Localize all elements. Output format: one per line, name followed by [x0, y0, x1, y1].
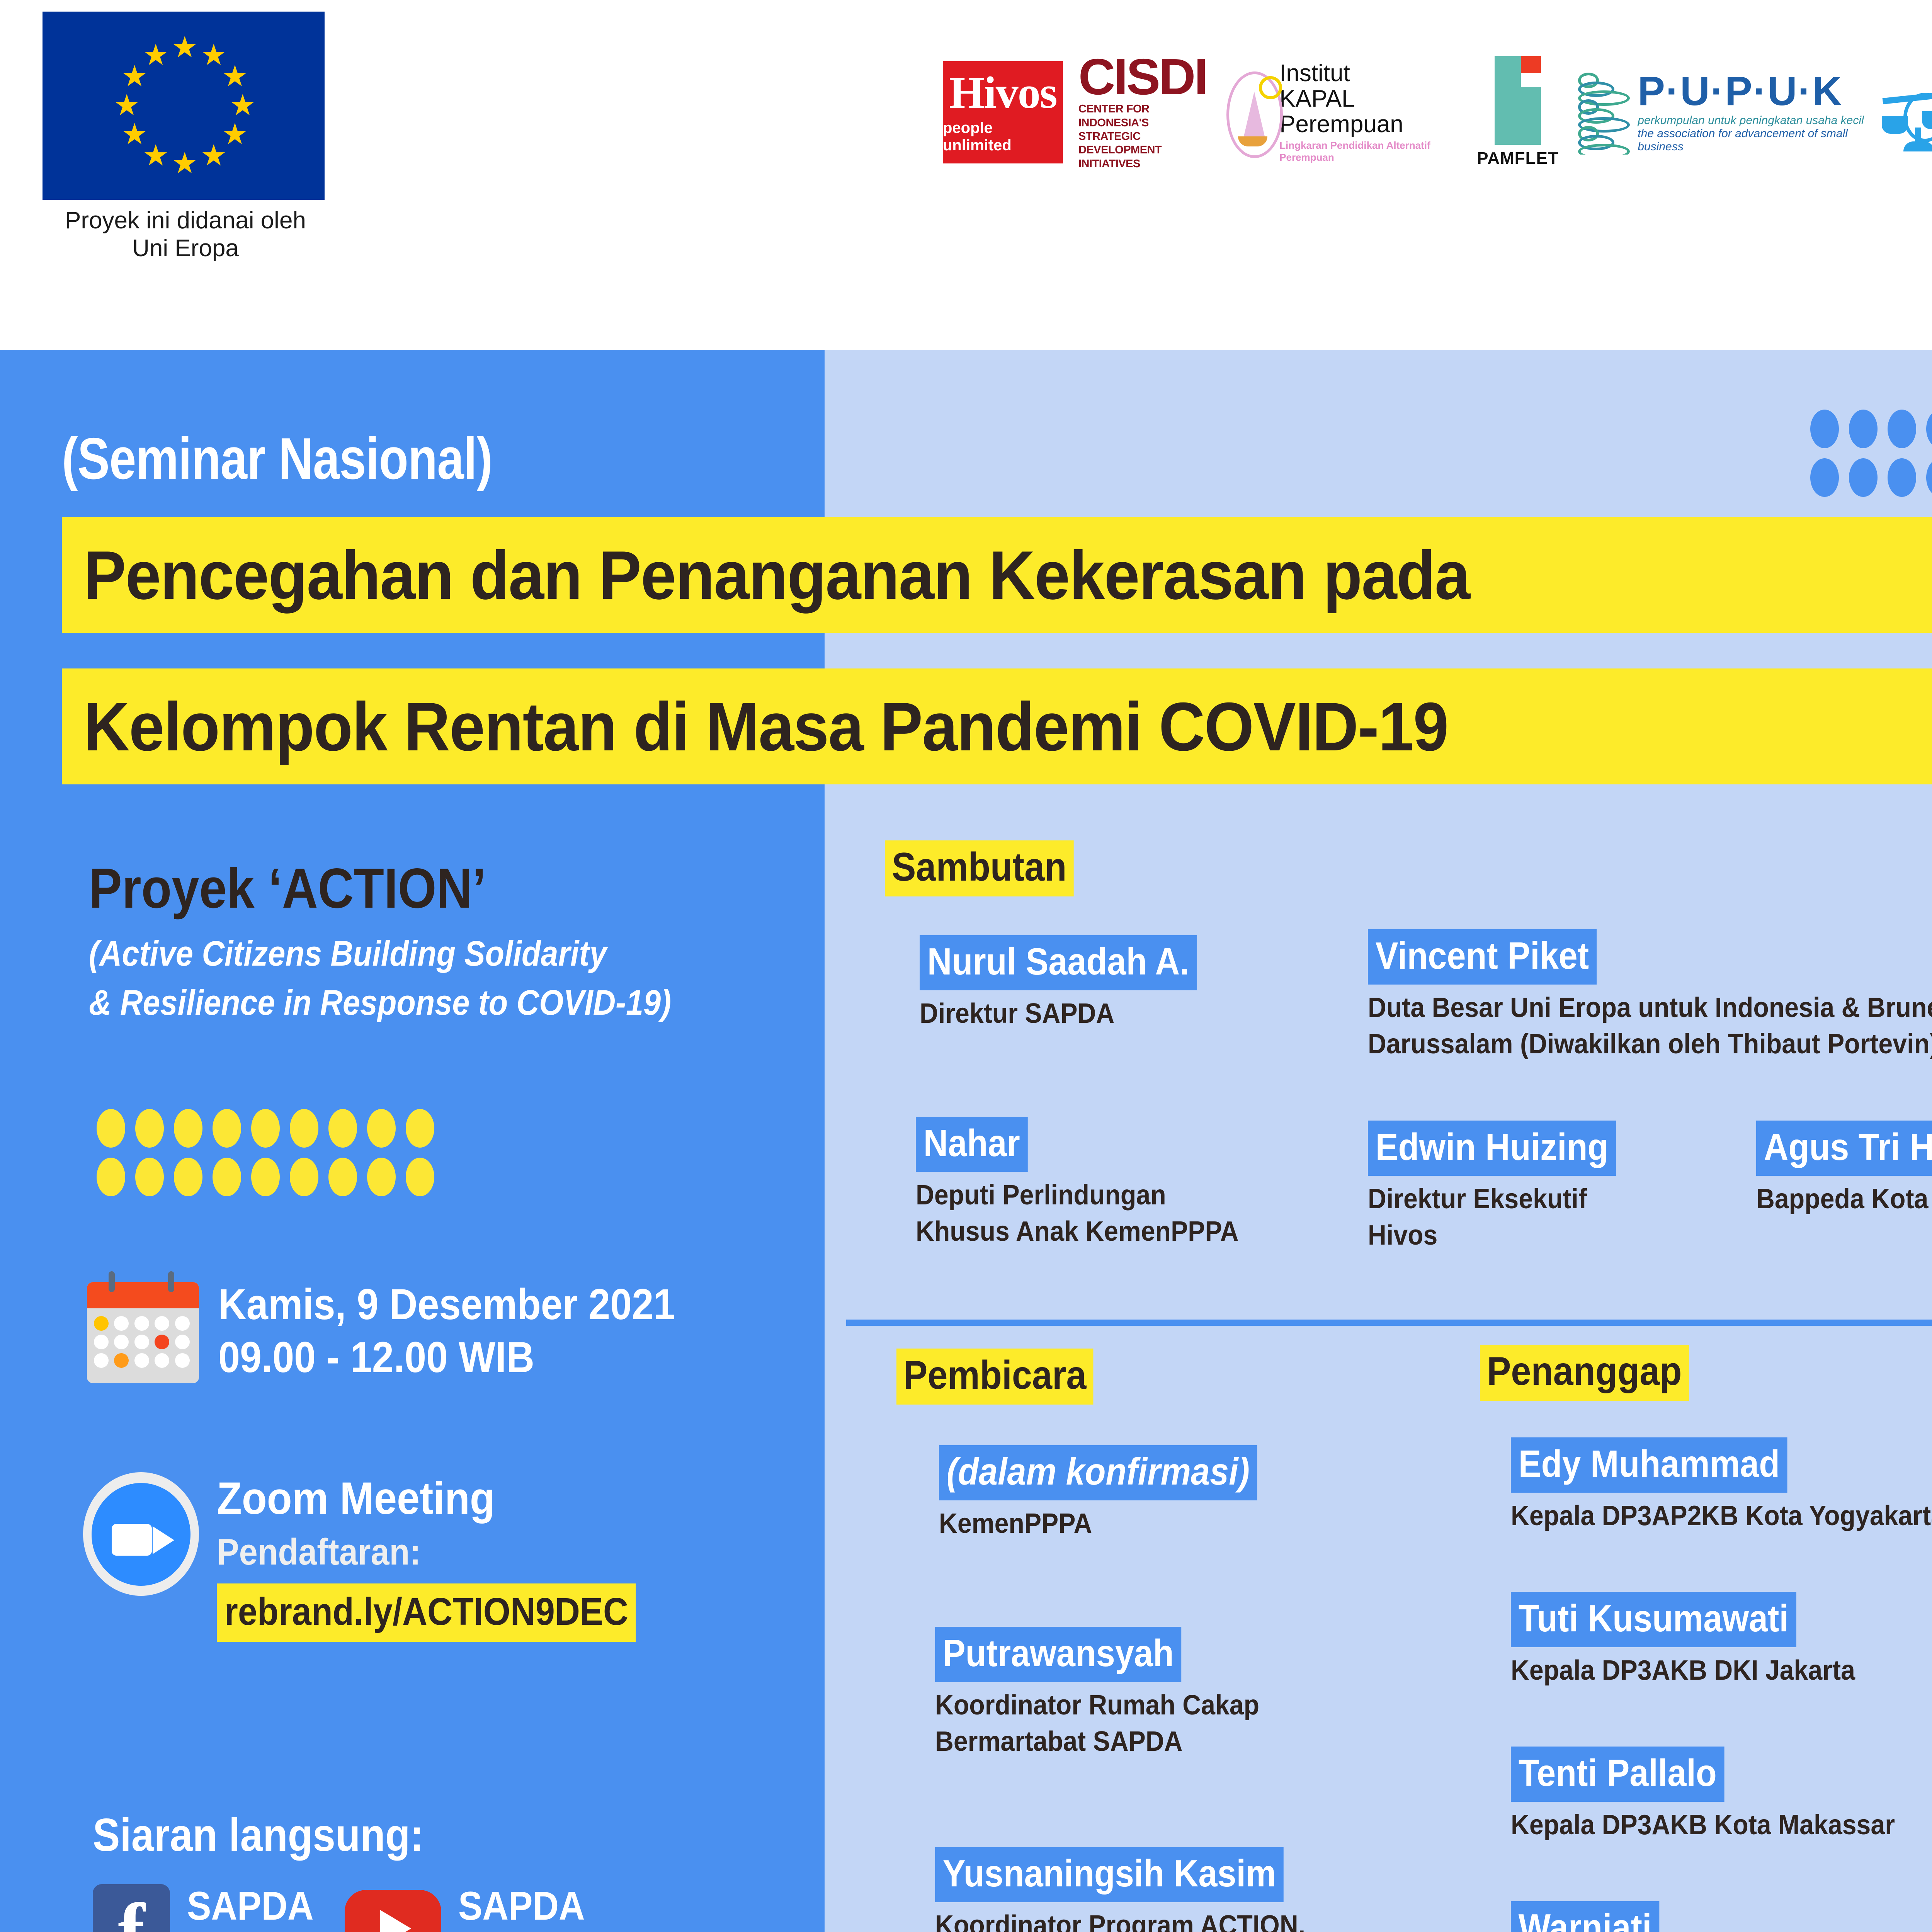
- person-name: Vincent Piket: [1368, 929, 1597, 985]
- kapal-line2: KAPAL Perempuan: [1279, 86, 1461, 137]
- decor-dot: [1926, 410, 1932, 448]
- partner-logos-row: Hivos people unlimited CISDI CENTER FOR …: [943, 43, 1932, 182]
- schedule-time: 09.00 - 12.00 WIB: [218, 1331, 675, 1384]
- decor-dot: [1888, 410, 1916, 448]
- european-union-flag: ★★★★★★★★★★★★: [43, 12, 325, 200]
- calendar-day-dot: [114, 1316, 129, 1331]
- kapal-tagline: Lingkaran Pendidikan Alternatif Perempua…: [1279, 139, 1461, 163]
- decor-dot: [367, 1109, 396, 1148]
- cisdi-logo: CISDI CENTER FOR INDONESIA'S STRATEGIC D…: [1078, 53, 1208, 171]
- decor-dot: [174, 1158, 202, 1196]
- pupuk-tagline-id: perkumpulan untuk peningkatan usaha keci…: [1638, 114, 1864, 127]
- pupuk-tagline-en: the association for advancement of small…: [1638, 127, 1864, 153]
- hivos-wordmark: Hivos: [949, 70, 1057, 116]
- eu-caption-line2: Uni Eropa: [43, 235, 328, 262]
- decor-dot: [1849, 410, 1878, 448]
- pupuk-swirl-icon: [1574, 70, 1632, 155]
- decor-dot: [1810, 458, 1839, 497]
- person-role-line1: Deputi Perlindungan: [916, 1177, 1239, 1214]
- project-expansion-line1: (Active Citizens Building Solidarity: [89, 929, 671, 978]
- sapda-logo: sapda Sentra Advokasi Perempuan, Difabel…: [1879, 70, 1932, 155]
- livestream-heading: Siaran langsung:: [93, 1808, 424, 1862]
- decor-dot: [367, 1158, 396, 1196]
- person-name: Edy Muhammad: [1511, 1437, 1787, 1493]
- person-name: Tenti Pallalo: [1511, 1747, 1725, 1802]
- hivos-tagline: people unlimited: [943, 119, 1063, 154]
- zoom-camera-icon: [83, 1472, 199, 1588]
- meeting-platform: Zoom Meeting: [217, 1472, 636, 1525]
- eu-star-icon: ★: [201, 43, 224, 67]
- project-expansion-line2: & Resilience in Response to COVID-19): [89, 978, 671, 1027]
- pupuk-wordmark: P·U·P·U·K perkumpulan untuk peningkatan …: [1638, 71, 1864, 153]
- pupuk-logo: P·U·P·U·K perkumpulan untuk peningkatan …: [1574, 70, 1864, 155]
- section-divider: [846, 1320, 1932, 1326]
- schedule-block: Kamis, 9 Desember 2021 09.00 - 12.00 WIB: [87, 1271, 726, 1384]
- youtube-icon[interactable]: [345, 1890, 441, 1932]
- calendar-day-dot: [94, 1316, 109, 1331]
- project-expansion: (Active Citizens Building Solidarity & R…: [89, 929, 671, 1027]
- person-name: Warniati: [1511, 1901, 1659, 1932]
- calendar-icon: [87, 1271, 199, 1383]
- hivos-logo: Hivos people unlimited: [943, 61, 1063, 163]
- header-logo-band: ★★★★★★★★★★★★ Proyek ini didanai oleh Uni…: [0, 0, 1932, 350]
- cisdi-wordmark: CISDI: [1078, 53, 1207, 100]
- person-card: Warniati Aktivis Lembaga Perlindungan An…: [1511, 1901, 1932, 1932]
- seminar-kicker: (Seminar Nasional): [62, 425, 492, 493]
- section-label-sambutan: Sambutan: [885, 840, 1095, 896]
- person-role-line1: Kepala DP3AKB DKI Jakarta: [1511, 1653, 1855, 1689]
- decor-dot-row: [97, 1109, 434, 1148]
- person-name: Tuti Kusumawati: [1511, 1592, 1796, 1647]
- decor-dot: [251, 1158, 280, 1196]
- kapal-line1: Institut: [1279, 61, 1461, 86]
- eu-funding-caption: Proyek ini didanai oleh Uni Eropa: [43, 207, 328, 262]
- calendar-day-dot: [134, 1353, 149, 1368]
- decor-dot: [97, 1109, 125, 1148]
- title-band-line2: Kelompok Rentan di Masa Pandemi COVID-19: [62, 668, 1932, 784]
- calendar-day-dot: [155, 1335, 169, 1349]
- decor-dot-row: [1810, 458, 1932, 497]
- person-role-line1: Direktur SAPDA: [920, 996, 1203, 1032]
- meeting-block: Zoom Meeting Pendaftaran: rebrand.ly/ACT…: [83, 1472, 682, 1642]
- calendar-day-dot: [134, 1316, 149, 1331]
- eu-star-icon: ★: [222, 65, 246, 88]
- person-name: Agus Tri Haryono: [1756, 1121, 1932, 1176]
- decor-dot: [406, 1158, 434, 1196]
- decor-dot: [290, 1158, 318, 1196]
- decorative-blue-dots: [1810, 410, 1932, 497]
- section-label-pembicara: Pembicara: [896, 1349, 1115, 1405]
- project-name: Proyek ‘ACTION’: [89, 856, 486, 921]
- youtube-channel-name: SAPDA Media: [458, 1884, 585, 1932]
- person-card: Nahar Deputi Perlindungan Khusus Anak Ke…: [916, 1117, 1267, 1250]
- person-card: Yusnaningsih Kasim Koordinator Program A…: [935, 1847, 1337, 1932]
- pamflet-wordmark: PAMFLET: [1477, 149, 1559, 168]
- decor-dot: [174, 1109, 202, 1148]
- person-card: Agus Tri Haryono Bappeda Kota Yogyakarta: [1756, 1121, 1932, 1218]
- person-card: Edwin Huizing Direktur Eksekutif Hivos: [1368, 1121, 1644, 1253]
- cisdi-tagline-line2: INDONESIA'S STRATEGIC: [1078, 116, 1208, 144]
- decor-dot: [1849, 458, 1878, 497]
- facebook-channel-line1: SAPDA: [187, 1884, 314, 1929]
- eu-star-icon: ★: [172, 151, 196, 175]
- person-role-line2: Hivos: [1368, 1218, 1622, 1254]
- calendar-day-dot: [94, 1353, 109, 1368]
- decor-dot: [1810, 410, 1839, 448]
- person-name: Edwin Huizing: [1368, 1121, 1616, 1176]
- decor-dot: [135, 1109, 164, 1148]
- youtube-channel-line2: Media: [458, 1929, 585, 1932]
- pamflet-logo: PAMFLET: [1477, 56, 1559, 168]
- decor-dot: [213, 1158, 241, 1196]
- decor-dot: [251, 1109, 280, 1148]
- eu-star-icon: ★: [114, 94, 138, 117]
- decor-dot-row: [1810, 410, 1932, 448]
- cisdi-tagline: CENTER FOR INDONESIA'S STRATEGIC DEVELOP…: [1078, 102, 1208, 171]
- eu-star-icon: ★: [230, 94, 253, 117]
- person-card: Edy Muhammad Kepala DP3AP2KB Kota Yogyak…: [1511, 1437, 1932, 1534]
- kapal-perempuan-logo: Institut KAPAL Perempuan Lingkaran Pendi…: [1223, 61, 1461, 163]
- person-role-line2: Darussalam (Diwakilkan oleh Thibaut Port…: [1368, 1026, 1932, 1063]
- sapda-scales-icon: [1879, 70, 1932, 155]
- decor-dot: [213, 1109, 241, 1148]
- cisdi-tagline-line3: DEVELOPMENT INITIATIVES: [1078, 143, 1208, 171]
- person-role-line2: Khusus Anak KemenPPPA: [916, 1214, 1239, 1250]
- meeting-text: Zoom Meeting Pendaftaran: rebrand.ly/ACT…: [217, 1472, 682, 1642]
- person-card: Putrawansyah Koordinator Rumah Cakap Ber…: [935, 1627, 1287, 1760]
- registration-label: Pendaftaran:: [217, 1531, 636, 1573]
- title-band-line1: Pencegahan dan Penanganan Kekerasan pada: [62, 517, 1932, 633]
- title-line2: Kelompok Rentan di Masa Pandemi COVID-19: [83, 687, 1448, 766]
- registration-url[interactable]: rebrand.ly/ACTION9DEC: [217, 1583, 636, 1642]
- decor-dot: [328, 1109, 357, 1148]
- person-role-line1: Duta Besar Uni Eropa untuk Indonesia & B…: [1368, 990, 1932, 1026]
- person-role-line1: KemenPPPA: [939, 1506, 1264, 1542]
- calendar-day-dot: [175, 1316, 190, 1331]
- person-role-line2: Bermartabat SAPDA: [935, 1724, 1259, 1760]
- kapal-wordmark: Institut KAPAL Perempuan Lingkaran Pendi…: [1279, 61, 1461, 163]
- decor-dot: [406, 1109, 434, 1148]
- eu-funding-block: ★★★★★★★★★★★★ Proyek ini didanai oleh Uni…: [43, 12, 328, 262]
- calendar-day-dot: [175, 1335, 190, 1349]
- decorative-yellow-dots: [97, 1109, 434, 1196]
- calendar-day-dot: [134, 1335, 149, 1349]
- person-card: Nurul Saadah A. Direktur SAPDA: [920, 935, 1228, 1032]
- decor-dot: [135, 1158, 164, 1196]
- calendar-day-dot: [175, 1353, 190, 1368]
- decor-dot: [328, 1158, 357, 1196]
- person-name: (dalam konfirmasi): [939, 1445, 1257, 1500]
- person-role-line1: Bappeda Kota Yogyakarta: [1756, 1181, 1932, 1218]
- youtube-channel-line1: SAPDA: [458, 1884, 585, 1929]
- eu-caption-line1: Proyek ini didanai oleh: [43, 207, 328, 235]
- calendar-day-dot: [94, 1335, 109, 1349]
- eu-star-icon: ★: [121, 65, 145, 88]
- livestream-channels: f SAPDA Jogja SAPDA Media: [93, 1884, 599, 1932]
- person-role-line1: Koordinator Program ACTION,: [935, 1908, 1305, 1932]
- schedule-date: Kamis, 9 Desember 2021: [218, 1278, 675, 1331]
- seminar-poster: ★★★★★★★★★★★★ Proyek ini didanai oleh Uni…: [0, 0, 1932, 1932]
- person-role-line1: Kepala DP3AKB Kota Makassar: [1511, 1807, 1895, 1844]
- decor-dot-row: [97, 1158, 434, 1196]
- title-line1: Pencegahan dan Penanganan Kekerasan pada: [83, 536, 1469, 615]
- person-role-line1: Koordinator Rumah Cakap: [935, 1687, 1259, 1724]
- facebook-channel-line2: Jogja: [187, 1929, 314, 1932]
- section-label-penanggap: Penanggap: [1480, 1345, 1712, 1401]
- facebook-icon[interactable]: f: [93, 1884, 170, 1932]
- calendar-day-dot: [155, 1353, 169, 1368]
- person-role-line1: Direktur Eksekutif: [1368, 1181, 1622, 1218]
- person-role-line1: Kepala DP3AP2KB Kota Yogyakarta: [1511, 1498, 1932, 1534]
- pamflet-mark-icon: [1495, 56, 1541, 145]
- kapal-boat-icon: [1223, 68, 1274, 156]
- cisdi-tagline-line1: CENTER FOR: [1078, 102, 1208, 116]
- person-card: (dalam konfirmasi) KemenPPPA: [939, 1445, 1293, 1542]
- facebook-channel-name: SAPDA Jogja: [187, 1884, 314, 1932]
- pupuk-main: P·U·P·U·K: [1638, 71, 1864, 112]
- person-card: Vincent Piket Duta Besar Uni Eropa untuk…: [1368, 929, 1932, 1062]
- decor-dot: [97, 1158, 125, 1196]
- person-name: Nahar: [916, 1117, 1028, 1172]
- schedule-text: Kamis, 9 Desember 2021 09.00 - 12.00 WIB: [218, 1271, 726, 1384]
- decor-dot: [290, 1109, 318, 1148]
- calendar-day-dot: [114, 1353, 129, 1368]
- decor-dot: [1888, 458, 1916, 497]
- person-name: Yusnaningsih Kasim: [935, 1847, 1284, 1902]
- person-card: Tuti Kusumawati Kepala DP3AKB DKI Jakart…: [1511, 1592, 1885, 1689]
- eu-star-icon: ★: [172, 36, 196, 60]
- decor-dot: [1926, 458, 1932, 497]
- eu-star-icon: ★: [143, 43, 167, 67]
- person-name: Putrawansyah: [935, 1627, 1182, 1682]
- calendar-day-dot: [114, 1335, 129, 1349]
- calendar-day-dot: [155, 1316, 169, 1331]
- eu-star-icon: ★: [121, 122, 145, 146]
- person-card: Tenti Pallalo Kepala DP3AKB Kota Makassa…: [1511, 1747, 1928, 1844]
- eu-star-icon: ★: [201, 144, 224, 168]
- person-name: Nurul Saadah A.: [920, 935, 1197, 990]
